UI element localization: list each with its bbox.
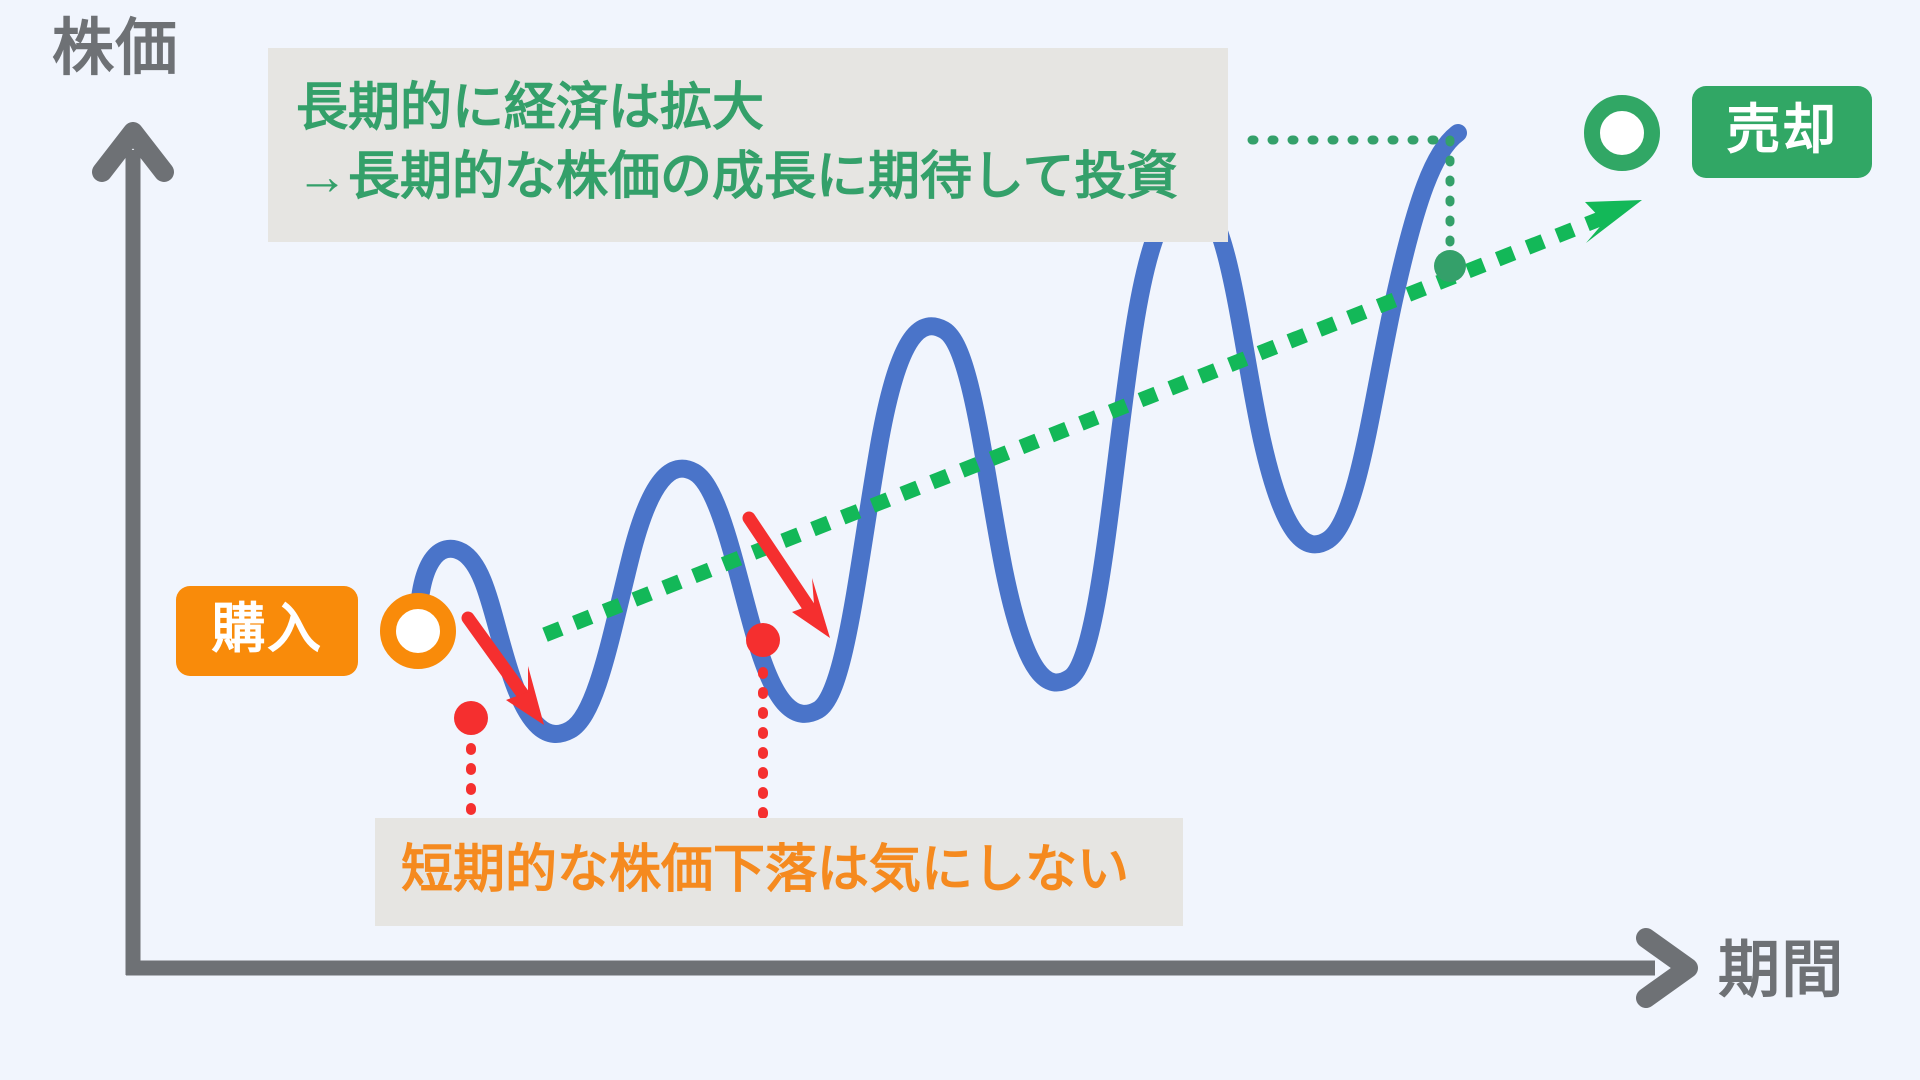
- y-axis-label: 株価: [52, 18, 178, 80]
- sell-badge[interactable]: 売却: [1692, 86, 1872, 178]
- growth-note-line-2: →長期的な株価の成長に期待して投資: [296, 143, 1200, 212]
- x-axis-label: 期間: [1718, 940, 1844, 1002]
- dip-dot-2: [746, 623, 780, 657]
- growth-note-panel: 長期的に経済は拡大 →長期的な株価の成長に期待して投資: [268, 48, 1228, 242]
- sell-point-marker: [1592, 103, 1652, 163]
- dip-marker-1: [454, 701, 488, 818]
- dip-note-panel: 短期的な株価下落は気にしない: [375, 818, 1183, 926]
- buy-point-marker: [388, 601, 448, 661]
- dip-note-line-1: 短期的な株価下落は気にしない: [401, 836, 1183, 905]
- diagram-canvas: 株価 期間 購入 売却 長期的に経済は拡大 →長期的な株価の成長に期待して投資 …: [0, 0, 1920, 1080]
- dip-dot-1: [454, 701, 488, 735]
- buy-badge[interactable]: 購入: [176, 586, 358, 676]
- trend-dot: [1434, 250, 1466, 282]
- growth-note-line-1: 長期的に経済は拡大: [296, 74, 1200, 143]
